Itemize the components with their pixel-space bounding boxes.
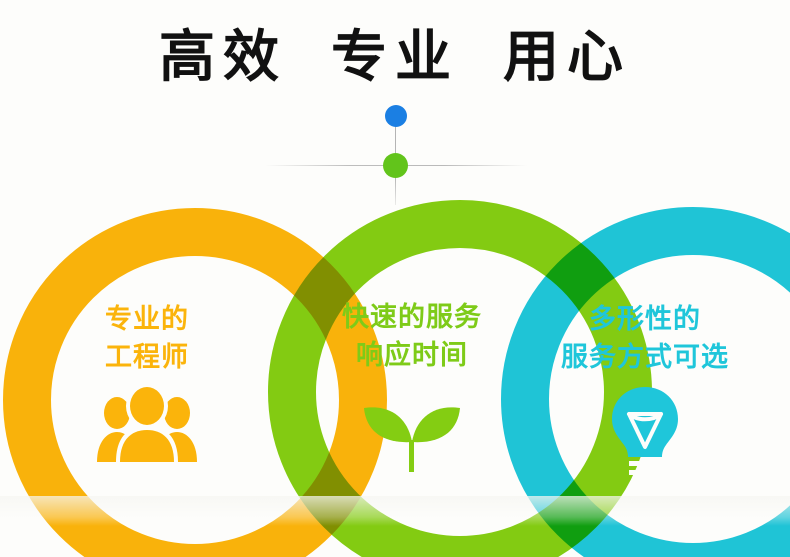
circle-cyan-line-1: 多形性的 [485,300,790,338]
lightbulb-icon [485,383,790,480]
circle-cyan-text: 多形性的 服务方式可选 [485,300,790,377]
circle-cyan-line-2: 服务方式可选 [485,338,790,376]
bottom-fade-band [0,496,790,526]
promo-poster: 高效专业用心 专业的 工程师 快速的服务 [0,0,790,557]
